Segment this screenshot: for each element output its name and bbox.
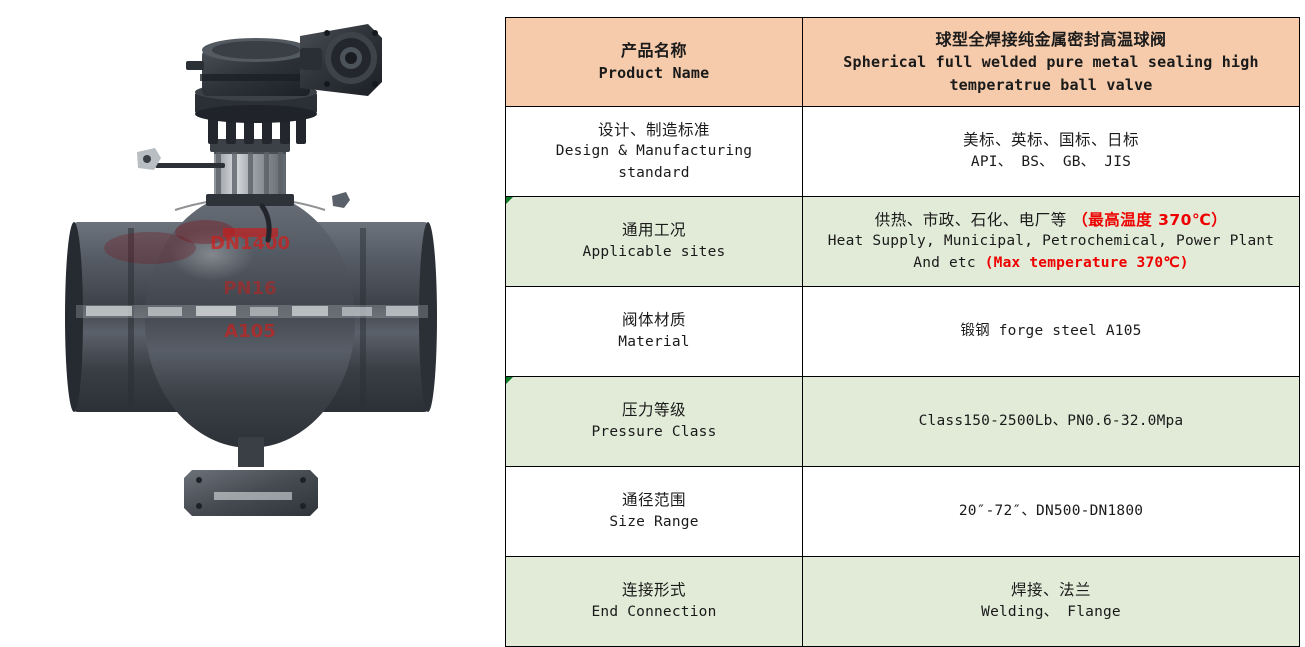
cell-label-end-connection: 连接形式 End Connection [506, 557, 803, 647]
label-cn-material: 阀体材质 [512, 309, 796, 331]
specular-reflection-band [76, 305, 428, 318]
gearbox-housing [186, 38, 312, 96]
stem-packing-assembly [206, 139, 294, 206]
label-en-end-connection: End Connection [512, 602, 796, 624]
label-cn-end-connection: 连接形式 [512, 579, 796, 601]
value-en-end-connection: Welding、 Flange [809, 602, 1293, 624]
value-en-design-standard: API、 BS、 GB、 JIS [809, 152, 1293, 174]
bottom-mounting-plate [184, 437, 318, 516]
svg-text:A105: A105 [224, 321, 276, 342]
table-row-material: 阀体材质 Material 锻钢 forge steel A105 [506, 287, 1300, 377]
label-en-pressure-class: Pressure Class [512, 422, 796, 444]
product-image-pane: DN1400 PN16 A105 [0, 0, 500, 547]
cell-value-design-standard: 美标、英标、国标、日标 API、 BS、 GB、 JIS [803, 107, 1300, 197]
label-en-applicable-sites: Applicable sites [512, 242, 796, 264]
table-row-size-range: 通径范围 Size Range 20″-72″、DN500-DN1800 [506, 467, 1300, 557]
product-specification-table: 产品名称 Product Name 球型全焊接纯金属密封高温球阀 Spheric… [505, 17, 1300, 647]
cell-label-applicable-sites: 通用工况 Applicable sites [506, 197, 803, 287]
side-lug [332, 192, 350, 208]
cell-value-end-connection: 焊接、法兰 Welding、 Flange [803, 557, 1300, 647]
label-en-design-standard-line2: standard [512, 163, 796, 185]
comment-marker-icon [506, 197, 513, 204]
label-en-product-name: Product Name [512, 62, 796, 85]
label-cn-pressure-class: 压力等级 [512, 399, 796, 421]
label-en-material: Material [512, 332, 796, 354]
svg-text:PN16: PN16 [223, 278, 276, 299]
cell-value-applicable-sites: 供热、市政、石化、电厂等 （最高温度 370℃） Heat Supply, Mu… [803, 197, 1300, 287]
table-row-pressure-class: 压力等级 Pressure Class Class150-2500Lb、PN0.… [506, 377, 1300, 467]
value-cn-end-connection: 焊接、法兰 [809, 579, 1293, 601]
value-en-product-name-line2: temperatrue ball valve [809, 74, 1293, 97]
label-en-size-range: Size Range [512, 512, 796, 534]
value-pressure-class: Class150-2500Lb、PN0.6-32.0Mpa [809, 411, 1293, 433]
cell-label-material: 阀体材质 Material [506, 287, 803, 377]
table-row-end-connection: 连接形式 End Connection 焊接、法兰 Welding、 Flang… [506, 557, 1300, 647]
value-en-applicable-sites-line2: And etc (Max temperature 370℃) [809, 253, 1293, 275]
value-cn-product-name: 球型全焊接纯金属密封高温球阀 [809, 28, 1293, 51]
label-cn-applicable-sites: 通用工况 [512, 219, 796, 241]
value-cn-applicable-sites-plain: 供热、市政、石化、电厂等 [875, 211, 1072, 229]
cell-value-pressure-class: Class150-2500Lb、PN0.6-32.0Mpa [803, 377, 1300, 467]
cell-label-pressure-class: 压力等级 Pressure Class [506, 377, 803, 467]
label-cn-product-name: 产品名称 [512, 39, 796, 62]
cell-value-size-range: 20″-72″、DN500-DN1800 [803, 467, 1300, 557]
value-cn-design-standard: 美标、英标、国标、日标 [809, 129, 1293, 151]
cell-label-size-range: 通径范围 Size Range [506, 467, 803, 557]
value-en-max-temperature: (Max temperature 370℃) [985, 255, 1189, 271]
label-en-design-standard-line1: Design & Manufacturing [512, 141, 796, 163]
value-en-product-name-line1: Spherical full welded pure metal sealing… [809, 51, 1293, 74]
svg-text:DN1400: DN1400 [210, 233, 290, 254]
cell-value-material: 锻钢 forge steel A105 [803, 287, 1300, 377]
value-en-applicable-sites-line1: Heat Supply, Municipal, Petrochemical, P… [809, 231, 1293, 253]
value-size-range: 20″-72″、DN500-DN1800 [809, 501, 1293, 523]
value-cn-max-temperature: （最高温度 370℃） [1072, 211, 1227, 229]
gearbox-stop-bolt [186, 61, 204, 70]
label-cn-size-range: 通径范围 [512, 489, 796, 511]
worm-gear-drive [300, 24, 382, 96]
value-cn-applicable-sites: 供热、市政、石化、电厂等 （最高温度 370℃） [809, 209, 1293, 231]
ball-valve-illustration: DN1400 PN16 A105 [0, 0, 500, 547]
comment-marker-icon [506, 377, 513, 384]
table-row-product-name: 产品名称 Product Name 球型全焊接纯金属密封高温球阀 Spheric… [506, 18, 1300, 107]
value-en-applicable-sites-plain: And etc [913, 255, 984, 271]
label-cn-design-standard: 设计、制造标准 [512, 119, 796, 141]
cell-label-design-standard: 设计、制造标准 Design & Manufacturing standard [506, 107, 803, 197]
value-material: 锻钢 forge steel A105 [809, 321, 1293, 343]
table-row-design-standard: 设计、制造标准 Design & Manufacturing standard … [506, 107, 1300, 197]
table-row-applicable-sites: 通用工况 Applicable sites 供热、市政、石化、电厂等 （最高温度… [506, 197, 1300, 287]
cell-label-product-name: 产品名称 Product Name [506, 18, 803, 107]
cell-value-product-name: 球型全焊接纯金属密封高温球阀 Spherical full welded pur… [803, 18, 1300, 107]
